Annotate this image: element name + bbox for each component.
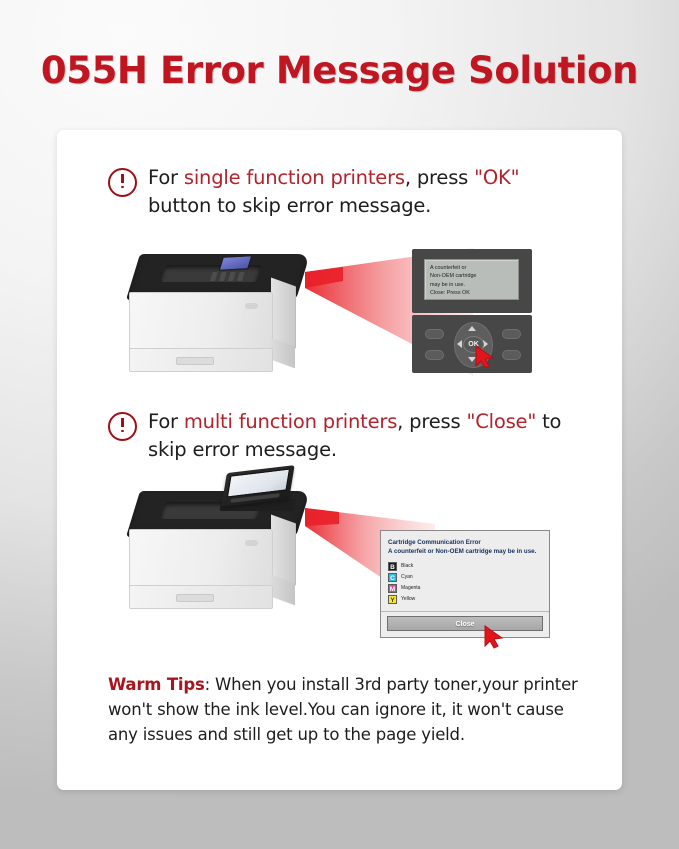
ink-row-yellow: Y Yellow xyxy=(388,595,542,604)
exclamation-circle-icon xyxy=(108,168,137,197)
pointer-shape-icon xyxy=(475,345,497,369)
instruction-text-multi-function: For multi function printers, press "Clos… xyxy=(148,408,578,465)
instruction-prefix: For xyxy=(148,166,184,189)
ink-label-black: Black xyxy=(401,563,413,569)
ink-label-magenta: Magenta xyxy=(401,585,420,591)
printer-key xyxy=(237,272,245,281)
panel-button-bottom-right[interactable] xyxy=(502,350,521,360)
printer-keypad xyxy=(207,272,252,283)
dialog-footer: Close xyxy=(381,611,549,637)
ink-chip-black: B xyxy=(388,562,397,571)
printer-key xyxy=(219,272,227,281)
printer-front-body xyxy=(129,292,273,352)
panel-button-bottom-left[interactable] xyxy=(425,350,444,360)
lcd-line-4: Close: Press OK xyxy=(430,289,513,297)
ink-row-black: B Black xyxy=(388,562,542,571)
printer-key xyxy=(210,272,218,281)
warm-tips-paragraph: Warm Tips: When you install 3rd party to… xyxy=(108,672,588,747)
ink-chip-cyan: C xyxy=(388,573,397,582)
dialog-body: Cartridge Communication Error A counterf… xyxy=(381,531,549,611)
printer-key xyxy=(228,272,236,281)
dialog-title: Cartridge Communication Error xyxy=(388,538,542,547)
exclamation-circle-icon xyxy=(108,412,137,441)
printer-side-panel xyxy=(271,277,296,348)
close-button[interactable]: Close xyxy=(387,616,543,631)
printer-front-body xyxy=(129,529,273,589)
instruction-prefix: For xyxy=(148,410,184,433)
page-title: 055H Error Message Solution xyxy=(0,49,679,92)
printer-lcd-screen xyxy=(219,255,253,271)
ink-row-magenta: M Magenta xyxy=(388,584,542,593)
instruction-text-single-function: For single function printers, press "OK"… xyxy=(148,164,578,221)
instruction-quoted-key: "Close" xyxy=(466,410,536,433)
warm-tips-separator: : xyxy=(205,675,215,694)
lcd-line-2: Non-OEM cartridge xyxy=(430,272,513,280)
dialog-subtitle: A counterfeit or Non-OEM cartridge may b… xyxy=(388,547,542,556)
lcd-line-1: A counterfeit or xyxy=(430,264,513,272)
instruction-row-multi-function: For multi function printers, press "Clos… xyxy=(108,408,578,465)
content-card: For single function printers, press "OK"… xyxy=(57,130,622,790)
printer-paper-tray xyxy=(129,585,273,609)
arrow-up-icon[interactable] xyxy=(468,326,476,331)
instruction-highlight: single function printers xyxy=(184,166,405,189)
lcd-line-3: may be in use. xyxy=(430,281,513,289)
arrow-left-icon[interactable] xyxy=(457,340,462,348)
panel-button-top-left[interactable] xyxy=(425,329,444,339)
printer-control-panel-callout: A counterfeit or Non-OEM cartridge may b… xyxy=(412,249,532,373)
instruction-middle: , press xyxy=(397,410,466,433)
instruction-quoted-key: "OK" xyxy=(474,166,519,189)
warm-tips-label: Warm Tips xyxy=(108,675,205,694)
instruction-suffix: button to skip error message. xyxy=(148,194,431,217)
instruction-highlight: multi function printers xyxy=(184,410,397,433)
ink-chip-yellow: Y xyxy=(388,595,397,604)
ink-chip-magenta: M xyxy=(388,584,397,593)
control-panel-lcd: A counterfeit or Non-OEM cartridge may b… xyxy=(424,259,519,300)
infographic-page: 055H Error Message Solution For single f… xyxy=(0,0,679,849)
ink-row-cyan: C Cyan xyxy=(388,573,542,582)
printer-side-panel xyxy=(271,514,296,585)
mouse-pointer-icon xyxy=(475,345,497,374)
ink-label-cyan: Cyan xyxy=(401,574,413,580)
pointer-shape-icon xyxy=(484,625,506,649)
printer-paper-tray xyxy=(129,348,273,372)
ink-label-yellow: Yellow xyxy=(401,596,415,602)
control-panel-button-housing: OK xyxy=(412,315,532,373)
cartridge-error-dialog: Cartridge Communication Error A counterf… xyxy=(380,530,550,638)
single-function-printer-illustration xyxy=(125,248,315,373)
instruction-row-single-function: For single function printers, press "OK"… xyxy=(108,164,578,221)
multi-function-printer-illustration xyxy=(125,485,315,610)
control-panel-screen-housing: A counterfeit or Non-OEM cartridge may b… xyxy=(412,249,532,313)
panel-button-top-right[interactable] xyxy=(502,329,521,339)
instruction-middle: , press xyxy=(405,166,474,189)
mouse-pointer-icon xyxy=(484,625,506,654)
